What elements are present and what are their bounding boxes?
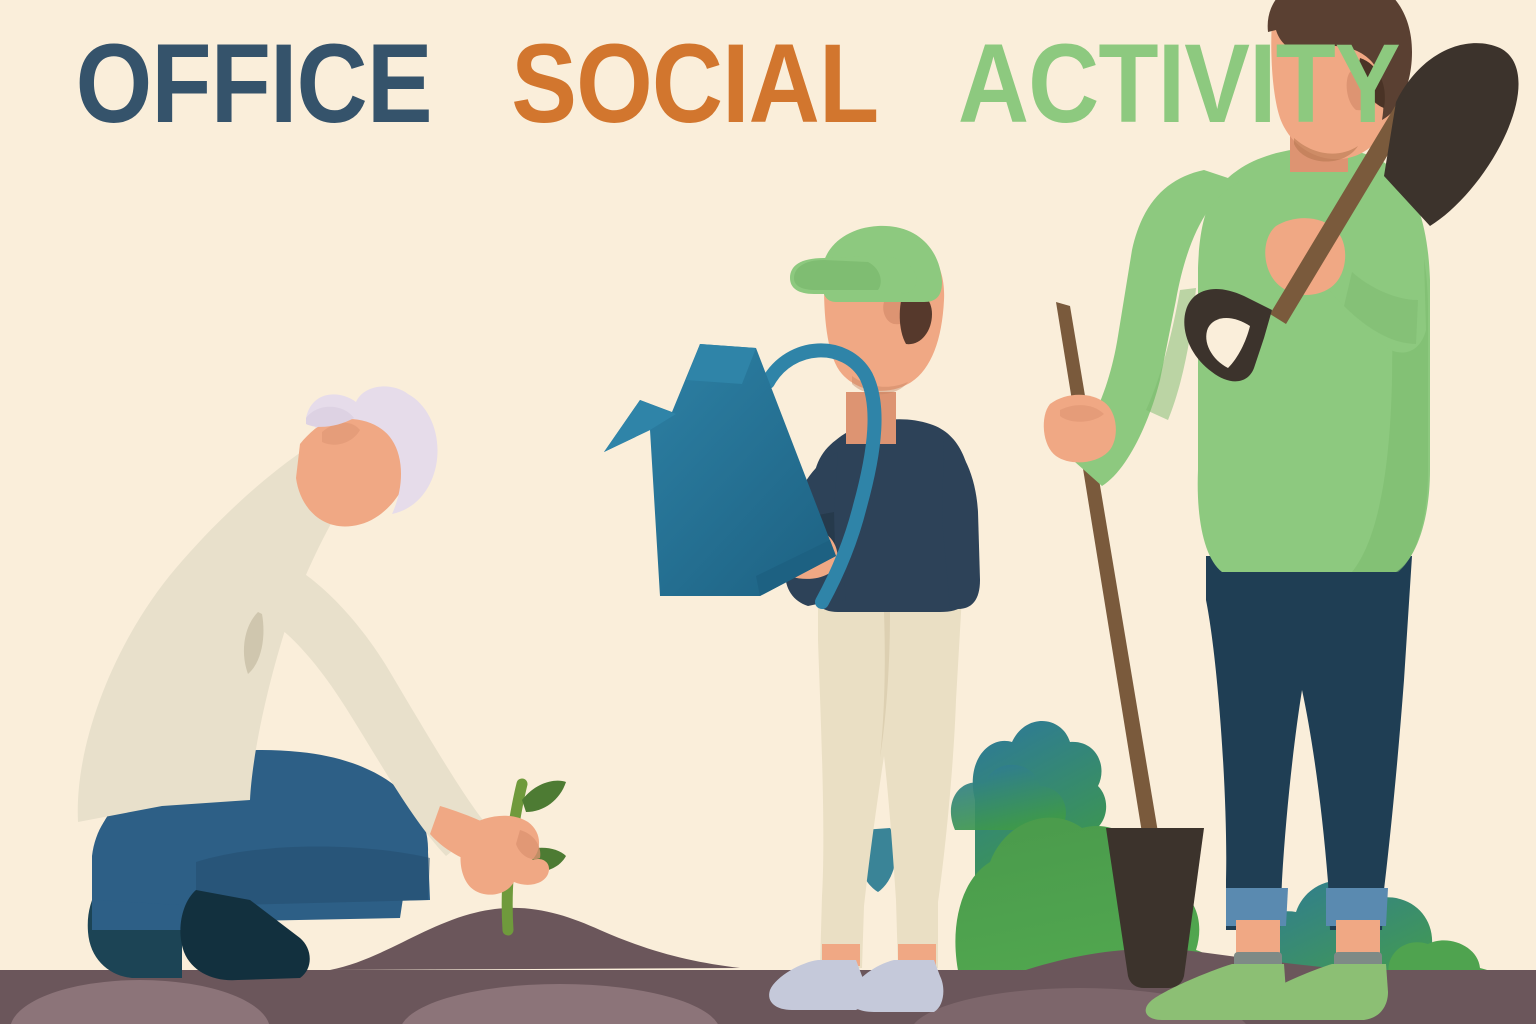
illustration-canvas: OFFICE SOCIAL ACTIVITY bbox=[0, 0, 1536, 1024]
scene-artwork bbox=[0, 0, 1536, 1024]
carrier-hand-left bbox=[1044, 395, 1116, 463]
worker-cap-brim-shadow bbox=[794, 260, 881, 290]
